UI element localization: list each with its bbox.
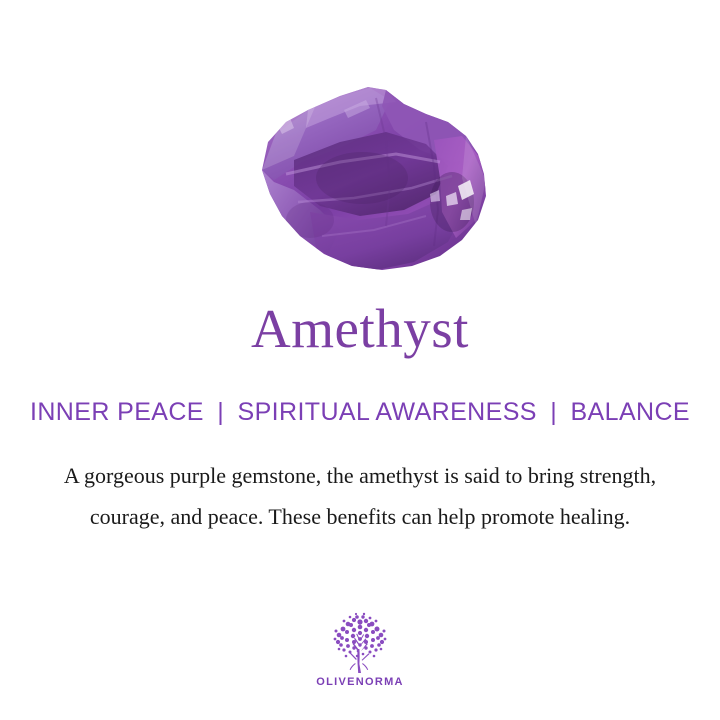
keyword-inner-peace: INNER PEACE	[30, 398, 204, 426]
amethyst-info-card: Amethyst INNER PEACE | SPIRITUAL AWARENE…	[0, 0, 720, 720]
raw-amethyst-crystal-image	[190, 70, 540, 285]
page-title: Amethyst	[0, 297, 720, 361]
keyword-spiritual-awareness: SPIRITUAL AWARENESS	[238, 398, 537, 426]
keyword-balance: BALANCE	[570, 398, 690, 426]
keyword-separator-2: |	[544, 398, 563, 426]
brand-name: OLIVENORMA	[0, 676, 720, 688]
gemstone-image-container	[0, 0, 720, 285]
shadow-pocket-center	[316, 152, 408, 204]
description-text: A gorgeous purple gemstone, the amethyst…	[60, 455, 660, 537]
brand-logo: OLIVENORMA	[0, 612, 720, 688]
keyword-separator-1: |	[211, 398, 230, 426]
keyword-list: INNER PEACE | SPIRITUAL AWARENESS | BALA…	[0, 396, 720, 428]
shadow-pocket-left	[286, 202, 334, 238]
olivenorma-tree-icon	[327, 612, 393, 674]
